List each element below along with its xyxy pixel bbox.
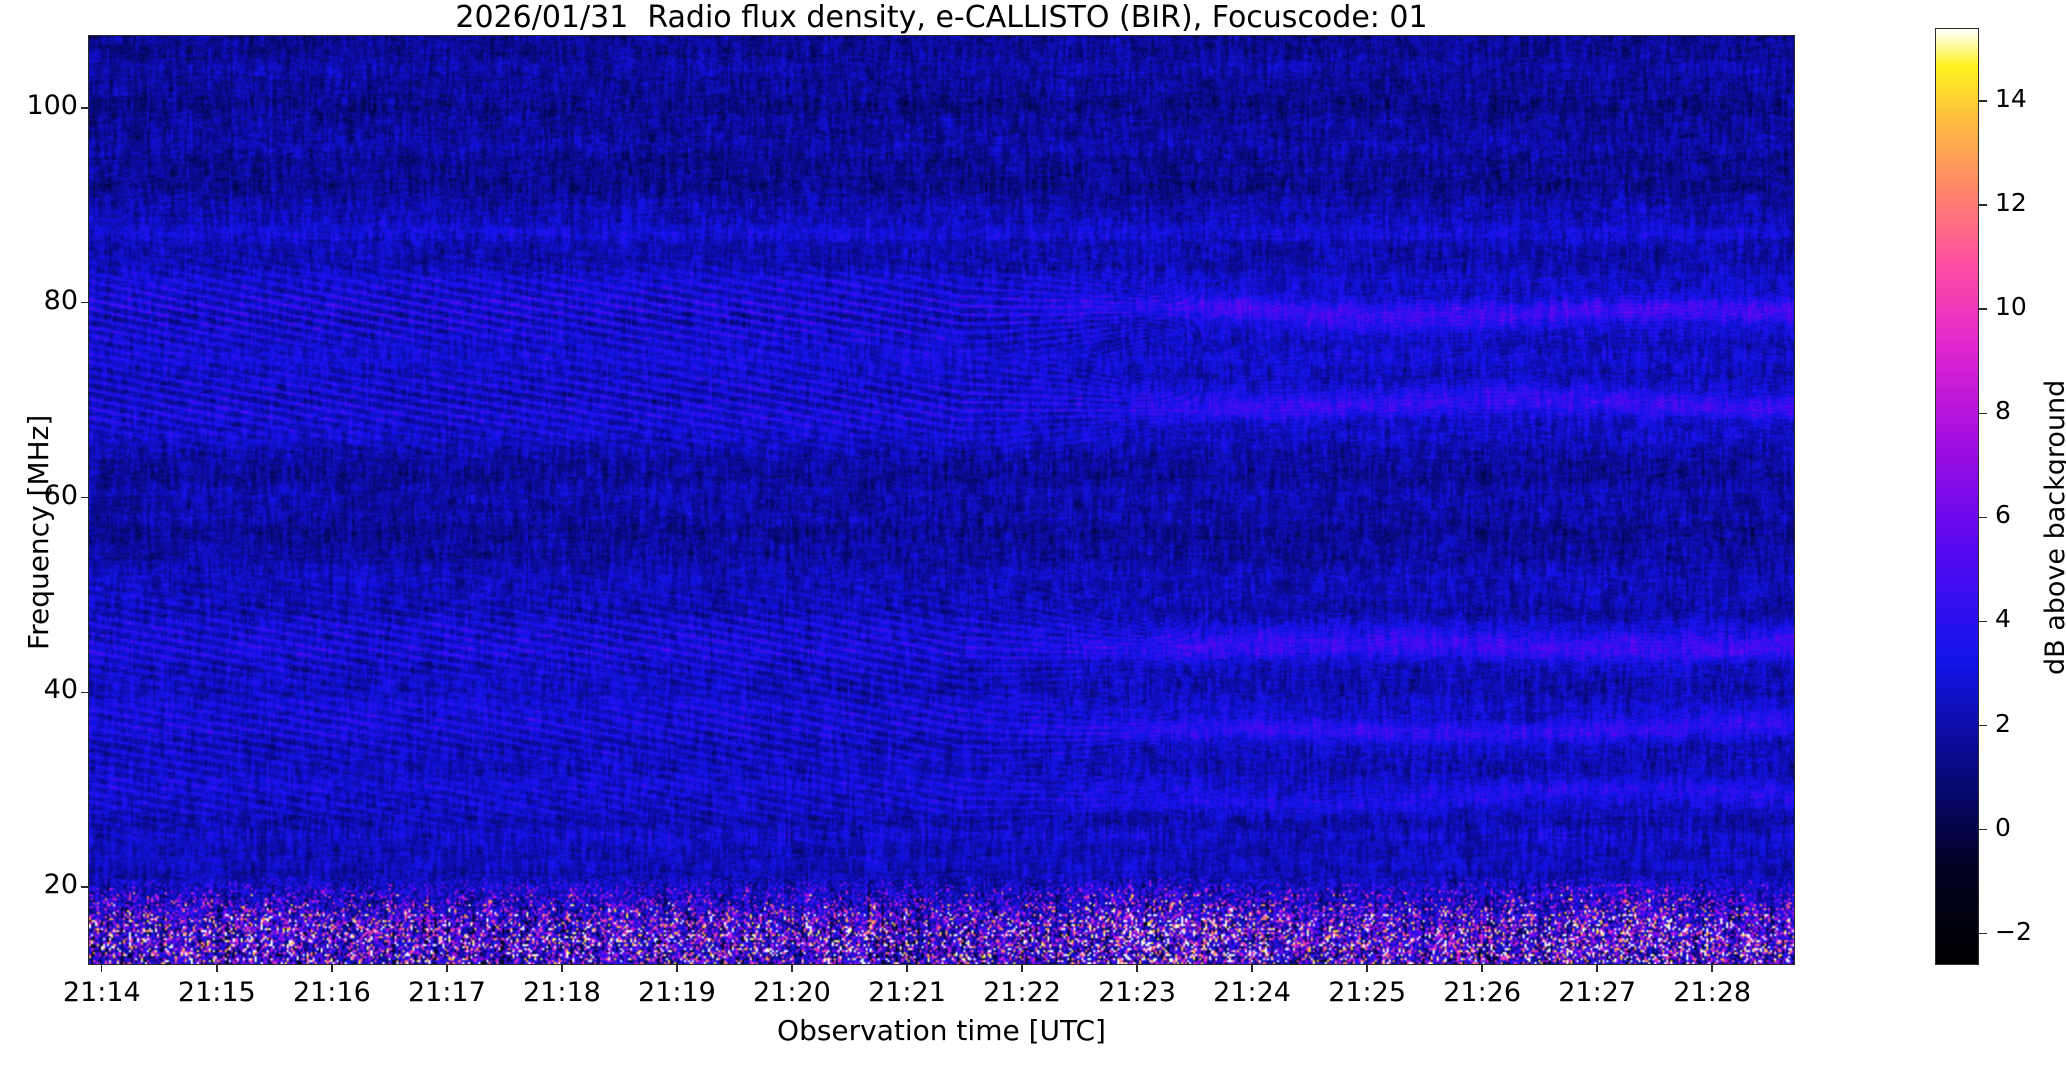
x-tick-mark (1481, 965, 1482, 972)
x-tick-label: 21:17 (387, 977, 507, 1008)
y-tick-label: 100 (22, 90, 78, 121)
y-tick-mark (81, 886, 88, 887)
figure-canvas: 2026/01/31 Radio flux density, e-CALLIST… (0, 0, 2066, 1067)
x-tick-mark (1251, 965, 1252, 972)
x-tick-mark (1711, 965, 1712, 972)
colorbar-tick-label: 10 (1995, 292, 2027, 321)
colorbar-tick-label: 4 (1995, 604, 2011, 633)
x-tick-mark (906, 965, 907, 972)
x-tick-label: 21:28 (1652, 977, 1772, 1008)
colorbar-tick-mark (1979, 621, 1987, 622)
colorbar-tick-label: 12 (1995, 188, 2027, 217)
x-tick-mark (1596, 965, 1597, 972)
colorbar-tick-label: 14 (1995, 84, 2027, 113)
colorbar-tick-label: 0 (1995, 813, 2011, 842)
x-tick-mark (791, 965, 792, 972)
x-tick-label: 21:15 (157, 977, 277, 1008)
x-tick-label: 21:22 (962, 977, 1082, 1008)
y-tick-mark (81, 497, 88, 498)
colorbar-tick-label: 8 (1995, 396, 2011, 425)
x-tick-mark (101, 965, 102, 972)
x-axis-label: Observation time [UTC] (88, 1014, 1795, 1047)
spectrogram-axes[interactable] (88, 35, 1795, 965)
colorbar-tick-label: 2 (1995, 709, 2011, 738)
x-tick-label: 21:23 (1077, 977, 1197, 1008)
x-tick-label: 21:27 (1537, 977, 1657, 1008)
y-tick-label: 40 (22, 674, 78, 705)
y-axis-label: Frequency [MHz] (22, 415, 55, 650)
spectrogram-image (89, 36, 1794, 964)
colorbar-gradient (1936, 29, 1978, 964)
colorbar-tick-mark (1979, 308, 1987, 309)
x-tick-label: 21:19 (617, 977, 737, 1008)
y-tick-mark (81, 107, 88, 108)
x-tick-label: 21:14 (42, 977, 162, 1008)
colorbar-tick-mark (1979, 204, 1987, 205)
colorbar[interactable] (1935, 28, 1979, 965)
x-tick-mark (676, 965, 677, 972)
x-tick-label: 21:26 (1422, 977, 1542, 1008)
y-tick-mark (81, 692, 88, 693)
x-tick-mark (1366, 965, 1367, 972)
x-tick-label: 21:21 (847, 977, 967, 1008)
y-tick-label: 80 (22, 285, 78, 316)
x-tick-label: 21:20 (732, 977, 852, 1008)
colorbar-label: dB above background (2040, 379, 2066, 674)
colorbar-tick-mark (1979, 100, 1987, 101)
x-tick-label: 21:16 (272, 977, 392, 1008)
page-title: 2026/01/31 Radio flux density, e-CALLIST… (88, 2, 1795, 34)
x-tick-mark (561, 965, 562, 972)
x-tick-mark (1021, 965, 1022, 972)
x-tick-label: 21:25 (1307, 977, 1427, 1008)
x-tick-label: 21:18 (502, 977, 622, 1008)
colorbar-tick-mark (1979, 413, 1987, 414)
y-tick-label: 20 (22, 869, 78, 900)
colorbar-tick-label: −2 (1995, 917, 2032, 946)
colorbar-tick-mark (1979, 517, 1987, 518)
x-tick-mark (331, 965, 332, 972)
colorbar-tick-mark (1979, 725, 1987, 726)
colorbar-tick-mark (1979, 933, 1987, 934)
colorbar-tick-mark (1979, 829, 1987, 830)
x-tick-mark (1136, 965, 1137, 972)
colorbar-tick-label: 6 (1995, 500, 2011, 529)
x-tick-label: 21:24 (1192, 977, 1312, 1008)
x-tick-mark (446, 965, 447, 972)
x-tick-mark (216, 965, 217, 972)
y-tick-mark (81, 302, 88, 303)
